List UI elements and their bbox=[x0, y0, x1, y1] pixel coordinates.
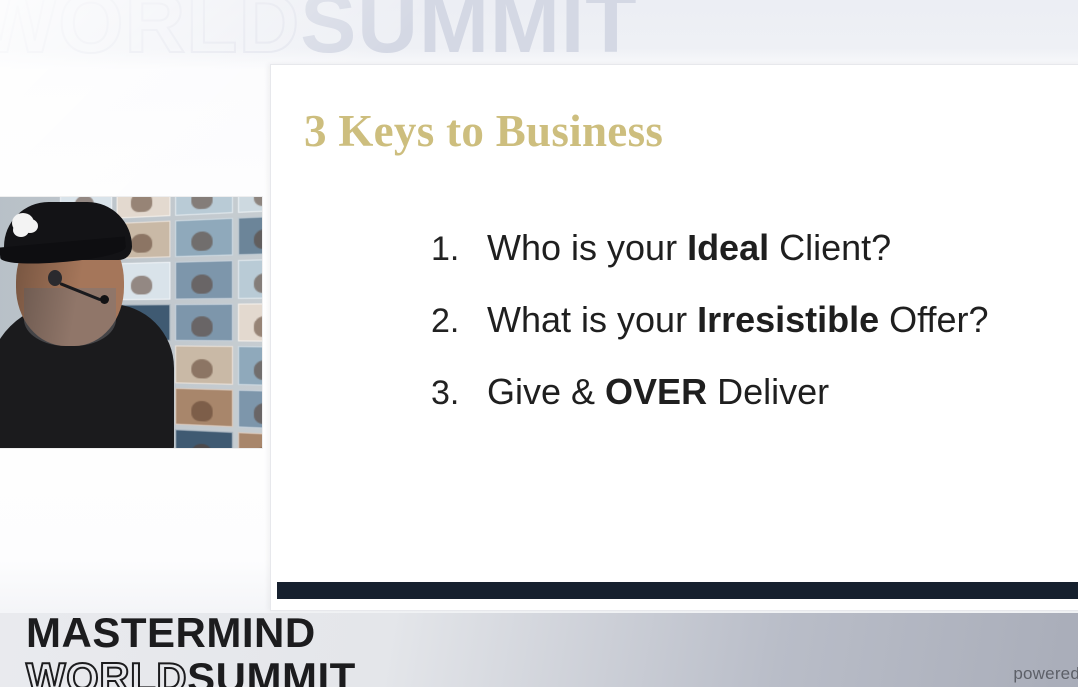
background-watermark: WORLDSUMMIT bbox=[0, 0, 1078, 62]
list-item-prefix: Who is your bbox=[487, 227, 687, 268]
participant-tile bbox=[237, 197, 262, 212]
participant-tile bbox=[175, 388, 232, 428]
watermark-summit-text: SUMMIT bbox=[300, 0, 637, 62]
presentation-slide[interactable]: 3 Keys to Business 1. Who is your Ideal … bbox=[270, 64, 1078, 611]
list-item-suffix: Client? bbox=[769, 227, 891, 268]
speaker-video-tile[interactable] bbox=[0, 197, 262, 448]
list-item-text: Give & OVER Deliver bbox=[487, 371, 829, 412]
list-item-emphasis: Ideal bbox=[687, 227, 769, 268]
slide-title: 3 Keys to Business bbox=[304, 105, 663, 157]
headset-mic-tip-icon bbox=[100, 295, 109, 304]
logo-mastermind-text: MASTERMIND bbox=[26, 612, 446, 654]
list-item-prefix: Give & bbox=[487, 371, 605, 412]
list-item-text: Who is your Ideal Client? bbox=[487, 227, 891, 268]
list-item-emphasis: Irresistible bbox=[697, 299, 879, 340]
footer-white-strip bbox=[0, 687, 1078, 700]
slide-bullet-list: 1. Who is your Ideal Client? 2. What is … bbox=[431, 227, 1071, 443]
list-item-number: 2. bbox=[431, 302, 487, 341]
powered-by-label: powered bbox=[1013, 664, 1078, 684]
watermark-world-text: WORLD bbox=[0, 0, 300, 62]
participant-tile bbox=[175, 346, 232, 385]
participant-tile bbox=[175, 303, 232, 341]
list-item: 3. Give & OVER Deliver bbox=[431, 371, 1071, 413]
broadcast-screen: WORLDSUMMIT bbox=[0, 0, 1078, 700]
participant-tile bbox=[237, 214, 262, 255]
participant-tile bbox=[237, 346, 262, 386]
list-item-suffix: Offer? bbox=[879, 299, 988, 340]
list-item-emphasis: OVER bbox=[605, 371, 707, 412]
participant-tile bbox=[237, 433, 262, 448]
participant-tile bbox=[175, 260, 232, 299]
list-item: 2. What is your Irresistible Offer? bbox=[431, 299, 1071, 341]
list-item-suffix: Deliver bbox=[707, 371, 829, 412]
participant-tile bbox=[237, 303, 262, 343]
participant-tile bbox=[237, 389, 262, 430]
participant-tile bbox=[175, 430, 232, 448]
participant-tile bbox=[175, 197, 232, 215]
slide-accent-bar bbox=[277, 582, 1078, 599]
list-item-text: What is your Irresistible Offer? bbox=[487, 299, 989, 340]
list-item-number: 1. bbox=[431, 230, 487, 269]
list-item-number: 3. bbox=[431, 374, 487, 413]
list-item-prefix: What is your bbox=[487, 299, 697, 340]
cap-logo-icon bbox=[12, 213, 34, 233]
list-item: 1. Who is your Ideal Client? bbox=[431, 227, 1071, 269]
event-logo: MASTERMIND WORLDSUMMIT bbox=[26, 612, 446, 699]
participant-tile bbox=[175, 217, 232, 257]
participant-tile bbox=[237, 259, 262, 299]
presenter-figure bbox=[0, 197, 182, 448]
